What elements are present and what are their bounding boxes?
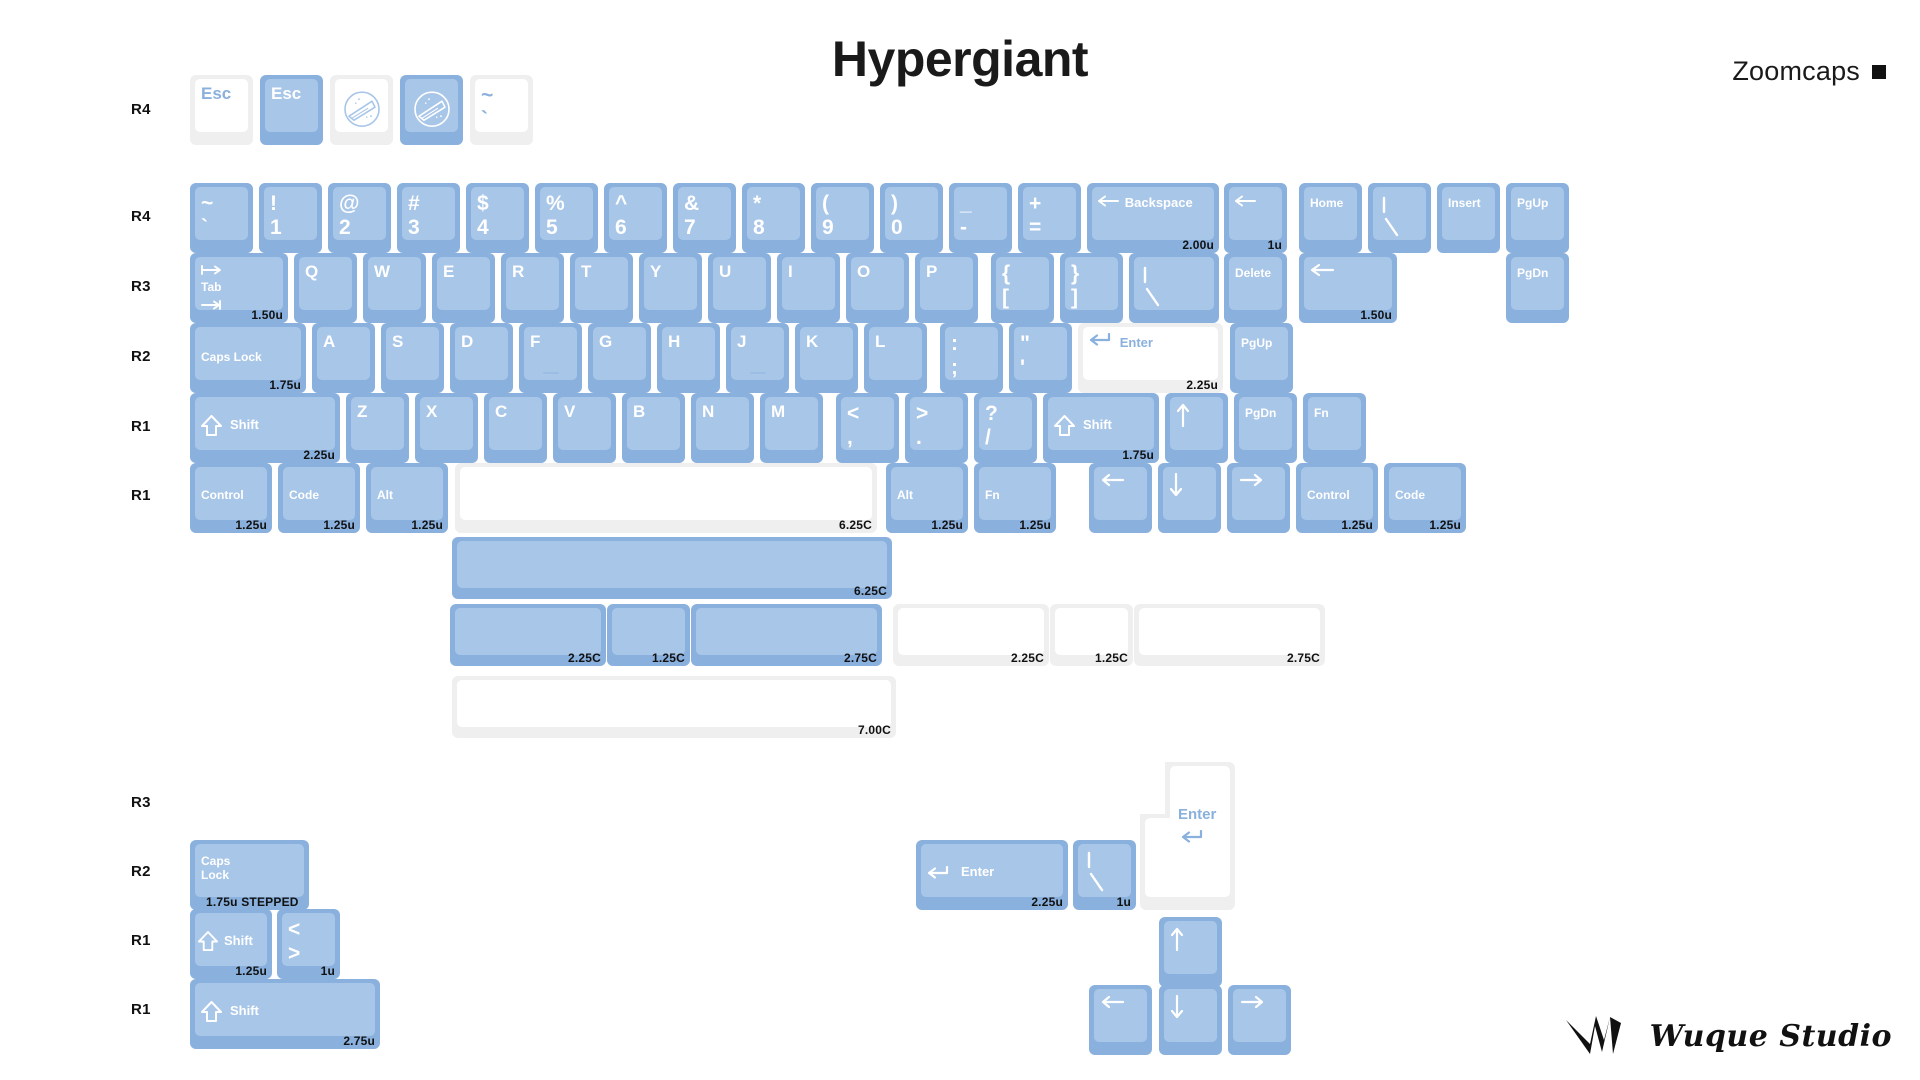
key-size-label: 1.25C — [652, 651, 685, 665]
key-minus[interactable]: _- — [949, 183, 1012, 253]
key-e[interactable]: E — [432, 253, 495, 323]
keycap-surface — [471, 187, 524, 240]
keycap-surface — [1442, 187, 1495, 240]
keycap-surface — [1308, 397, 1361, 450]
keycap-surface — [954, 187, 1007, 240]
keycap-surface — [264, 187, 317, 240]
key-insert[interactable]: Insert — [1437, 183, 1500, 253]
keycap-surface — [696, 608, 877, 655]
keycap-surface — [333, 187, 386, 240]
key-rcontrol[interactable]: Control1.25u — [1296, 463, 1378, 533]
keycap-surface — [920, 257, 973, 310]
row-label-r1-bottom: R1 — [131, 487, 151, 504]
key-lalt[interactable]: Alt1.25u — [366, 463, 448, 533]
key-left-extra[interactable] — [1089, 985, 1152, 1055]
keycap-surface — [420, 397, 473, 450]
keycap-surface — [195, 327, 301, 380]
keycap-surface — [1304, 187, 1357, 240]
key-equal[interactable]: += — [1018, 183, 1081, 253]
keycap-surface — [195, 983, 375, 1036]
key-capslock-stepped[interactable]: Caps Lock 1.75u STEPPED — [190, 840, 309, 910]
keycap-surface — [195, 187, 248, 240]
key-lcode[interactable]: Code1.25u — [278, 463, 360, 533]
keycap-surface — [1139, 608, 1320, 655]
key-7[interactable]: &7 — [673, 183, 736, 253]
key-1[interactable]: !1 — [259, 183, 322, 253]
keycap-surface — [678, 187, 731, 240]
key-m[interactable]: M — [760, 393, 823, 463]
key-x[interactable]: X — [415, 393, 478, 463]
key-rbracket[interactable]: }] — [1060, 253, 1123, 323]
key-size-label: 1u — [321, 964, 335, 978]
key-w[interactable]: W — [363, 253, 426, 323]
key-period[interactable]: >. — [905, 393, 968, 463]
key-size-label: 1.25u — [235, 518, 267, 532]
key-pgdn[interactable]: PgDn — [1506, 253, 1569, 323]
spacebar-275c-white[interactable]: 2.75C — [1134, 604, 1325, 666]
key-quote[interactable]: "' — [1009, 323, 1072, 393]
keycap-surface — [368, 257, 421, 310]
spacebar-125c-blue[interactable]: 1.25C — [607, 604, 690, 666]
spacebar-225c-blue[interactable]: 2.25C — [450, 604, 606, 666]
brand-text: Zoomcaps — [1732, 56, 1860, 87]
key-space-625c-white[interactable]: 6.25C — [455, 463, 877, 533]
key-tilde-grave-white[interactable]: ~ ` — [470, 75, 533, 145]
keycap-surface — [593, 327, 646, 380]
row-label-r2-home: R2 — [131, 348, 151, 365]
key-backspace-15u[interactable]: 1.50u — [1299, 253, 1397, 323]
keycap-surface — [558, 397, 611, 450]
key-esc-white[interactable]: Esc — [190, 75, 253, 145]
key-size-label: 1u — [1117, 895, 1131, 909]
footer-logo: Wuque Studio — [1564, 1014, 1892, 1058]
keycap-surface — [1229, 257, 1282, 310]
black-square-icon — [1872, 65, 1886, 79]
keycap-surface — [506, 257, 559, 310]
key-pgup[interactable]: PgUp — [1506, 183, 1569, 253]
key-c[interactable]: C — [484, 393, 547, 463]
keycap-surface — [195, 257, 283, 310]
keycap-surface — [945, 327, 998, 380]
row-label-r3-qwerty: R3 — [131, 278, 151, 295]
key-backslash[interactable] — [1129, 253, 1219, 323]
key-tab[interactable]: Tab 1.50u — [190, 253, 288, 323]
keycap-surface — [869, 327, 922, 380]
key-f[interactable]: F — [519, 323, 582, 393]
key-comma[interactable]: <, — [836, 393, 899, 463]
keycap-surface — [1511, 257, 1564, 310]
keycap-surface — [1164, 989, 1217, 1042]
keycap-surface — [1301, 467, 1373, 520]
key-l[interactable]: L — [864, 323, 927, 393]
keycap-surface — [455, 608, 601, 655]
keycap-surface — [1014, 327, 1067, 380]
key-size-label: 7.00C — [858, 723, 891, 737]
key-b[interactable]: B — [622, 393, 685, 463]
key-pipe-backslash[interactable] — [1368, 183, 1431, 253]
comet-icon — [412, 89, 452, 129]
pipe-backslash-icon — [1141, 265, 1167, 309]
key-home[interactable]: Home — [1299, 183, 1362, 253]
keycap-surface — [386, 327, 439, 380]
pipe-backslash-icon — [1380, 195, 1406, 239]
keycap-surface — [713, 257, 766, 310]
key-t[interactable]: T — [570, 253, 633, 323]
key-size-label: 1.25u — [1429, 518, 1461, 532]
keycap-surface — [979, 397, 1032, 450]
row-label-r1-shift: R1 — [131, 418, 151, 435]
keycap-surface — [782, 257, 835, 310]
homing-bar — [543, 372, 559, 374]
key-d[interactable]: D — [450, 323, 513, 393]
keycap-surface — [265, 79, 318, 132]
key-size-label: 1.25u — [411, 518, 443, 532]
key-y[interactable]: Y — [639, 253, 702, 323]
key-size-label: 2.00u — [1182, 238, 1214, 252]
key-rfn[interactable]: Fn1.25u — [974, 463, 1056, 533]
keycap-surface — [979, 467, 1051, 520]
keycap-surface — [891, 467, 963, 520]
key-u[interactable]: U — [708, 253, 771, 323]
key-s[interactable]: S — [381, 323, 444, 393]
key-size-label: 1.50u — [251, 308, 283, 322]
keycap-surface — [540, 187, 593, 240]
row-label-r1-extra-a: R1 — [131, 932, 151, 949]
key-iso-enter[interactable]: Enter — [1140, 762, 1235, 910]
key-semicolon[interactable]: :; — [940, 323, 1003, 393]
key-size-label: 1.75u — [1122, 448, 1154, 462]
key-anglebracket-1u[interactable]: <> 1u — [277, 909, 340, 979]
keycap-surface — [195, 844, 304, 897]
keycap-surface — [575, 257, 628, 310]
wuque-w-icon — [1564, 1014, 1636, 1058]
key-slash[interactable]: ?/ — [974, 393, 1037, 463]
key-backspace[interactable]: Backspace 2.00u — [1087, 183, 1219, 253]
key-novelty-comet-white[interactable] — [330, 75, 393, 145]
key-size-label: 1.25u — [931, 518, 963, 532]
key-right[interactable] — [1227, 463, 1290, 533]
spacebar-225c-white[interactable]: 2.25C — [893, 604, 1049, 666]
key-n[interactable]: N — [691, 393, 754, 463]
key-size-label: 1.75u — [269, 378, 301, 392]
keycap-surface — [921, 844, 1063, 897]
keycap-surface — [1164, 921, 1217, 974]
key-size-label: 1.25u — [1341, 518, 1373, 532]
key-shift-275u[interactable]: Shift 2.75u — [190, 979, 380, 1049]
row-label-r1-extra-b: R1 — [131, 1001, 151, 1018]
key-a[interactable]: A — [312, 323, 375, 393]
enter-arrow-icon — [1180, 830, 1208, 844]
keycap-surface — [841, 397, 894, 450]
key-size-label: 2.25u — [1186, 378, 1218, 392]
keycap-surface — [898, 608, 1044, 655]
key-size-label: 1.25u — [1019, 518, 1051, 532]
keycap-surface — [317, 327, 370, 380]
keycap-surface — [1229, 187, 1282, 240]
brand-label: Zoomcaps — [1732, 56, 1886, 87]
key-size-label: 2.25C — [1011, 651, 1044, 665]
logo-text: Wuque Studio — [1650, 1019, 1892, 1054]
key-8[interactable]: *8 — [742, 183, 805, 253]
key-size-label: 6.25C — [839, 518, 872, 532]
keycap-surface — [457, 680, 891, 727]
key-enter[interactable]: Enter 2.25u — [1078, 323, 1223, 393]
key-up[interactable] — [1165, 393, 1228, 463]
keycap-surface — [609, 187, 662, 240]
key-ralt[interactable]: Alt1.25u — [886, 463, 968, 533]
keycap-surface — [1232, 467, 1285, 520]
key-novelty-comet-blue[interactable] — [400, 75, 463, 145]
key-rshift[interactable]: Shift 1.75u — [1043, 393, 1159, 463]
key-lshift[interactable]: Shift 2.25u — [190, 393, 340, 463]
key-i[interactable]: I — [777, 253, 840, 323]
key-size-label: 1.25u — [235, 964, 267, 978]
key-down[interactable] — [1158, 463, 1221, 533]
row-label-r2-extra: R2 — [131, 863, 151, 880]
comet-icon — [342, 89, 382, 129]
key-pipe-backslash-1u[interactable]: 1u — [1073, 840, 1136, 910]
key-size-label: 1.25u — [323, 518, 355, 532]
keycap-surface — [1511, 187, 1564, 240]
key-r[interactable]: R — [501, 253, 564, 323]
key-rcode[interactable]: Code1.25u — [1384, 463, 1466, 533]
key-up-extra[interactable] — [1159, 917, 1222, 987]
keycap-surface — [437, 257, 490, 310]
key-pgdn-r1[interactable]: PgDn — [1234, 393, 1297, 463]
keycap-surface — [765, 397, 818, 450]
key-v[interactable]: V — [553, 393, 616, 463]
keycap-surface — [282, 913, 335, 966]
keycap-surface — [195, 397, 335, 450]
keycap-surface — [644, 257, 697, 310]
key-z[interactable]: Z — [346, 393, 409, 463]
keycap-surface — [475, 79, 528, 132]
key-down-extra[interactable] — [1159, 985, 1222, 1055]
key-size-label: 1.75u STEPPED — [206, 895, 299, 909]
key-5[interactable]: %5 — [535, 183, 598, 253]
key-size-label: 2.25C — [568, 651, 601, 665]
key-size-label: 1.50u — [1360, 308, 1392, 322]
key-size-label: 1.25C — [1095, 651, 1128, 665]
keycap-surface — [851, 257, 904, 310]
key-lbracket[interactable]: {[ — [991, 253, 1054, 323]
keycap-surface — [1065, 257, 1118, 310]
keycap-surface — [351, 397, 404, 450]
spacebar-125c-white[interactable]: 1.25C — [1050, 604, 1133, 666]
keycap-surface — [816, 187, 869, 240]
key-esc-blue[interactable]: Esc — [260, 75, 323, 145]
keycap-surface — [402, 187, 455, 240]
key-0[interactable]: )0 — [880, 183, 943, 253]
key-left[interactable] — [1089, 463, 1152, 533]
keycap-surface — [885, 187, 938, 240]
key-fn-r1[interactable]: Fn — [1303, 393, 1366, 463]
key-pgup-r2[interactable]: PgUp — [1230, 323, 1293, 393]
key-enter-225u-blue[interactable]: Enter 2.25u — [916, 840, 1068, 910]
spacebar-625c-blue[interactable]: 6.25C — [452, 537, 892, 599]
key-right-extra[interactable] — [1228, 985, 1291, 1055]
key-size-label: 2.25u — [303, 448, 335, 462]
keycap-surface — [1048, 397, 1154, 450]
key-h[interactable]: H — [657, 323, 720, 393]
keycap-surface — [371, 467, 443, 520]
keycap-surface — [800, 327, 853, 380]
keycap-surface — [1389, 467, 1461, 520]
iso-notch — [1140, 762, 1165, 814]
key-6[interactable]: ^6 — [604, 183, 667, 253]
key-delete[interactable]: Delete — [1224, 253, 1287, 323]
keycap-surface — [460, 467, 872, 520]
keycap-surface — [1235, 327, 1288, 380]
key-tilde[interactable]: ~` — [190, 183, 253, 253]
key-p[interactable]: P — [915, 253, 978, 323]
keycap-surface — [627, 397, 680, 450]
keycap-surface — [457, 541, 887, 588]
keycap-surface — [1092, 187, 1214, 240]
key-size-label: 2.75C — [844, 651, 877, 665]
keycap-surface — [195, 913, 267, 966]
key-j[interactable]: J — [726, 323, 789, 393]
keycap-surface — [489, 397, 542, 450]
key-9[interactable]: (9 — [811, 183, 874, 253]
keycap-surface — [747, 187, 800, 240]
pipe-backslash-icon — [1085, 850, 1111, 894]
keycap-surface — [1023, 187, 1076, 240]
keycap-surface — [1094, 467, 1147, 520]
key-4[interactable]: $4 — [466, 183, 529, 253]
key-size-label: 1u — [1268, 238, 1282, 252]
keycap-surface — [1083, 327, 1218, 380]
keycap-surface — [455, 327, 508, 380]
keycap-surface — [1233, 989, 1286, 1042]
row-label-r3-extra: R3 — [131, 794, 151, 811]
keycap-surface — [662, 327, 715, 380]
keycap-surface — [1304, 257, 1392, 310]
spacebar-700c-white[interactable]: 7.00C — [452, 676, 896, 738]
homing-bar — [750, 372, 766, 374]
spacebar-275c-blue[interactable]: 2.75C — [691, 604, 882, 666]
key-backspace-1u[interactable]: 1u — [1224, 183, 1287, 253]
keycap-surface — [195, 79, 248, 132]
row-label-r4-numrow: R4 — [131, 208, 151, 225]
key-3[interactable]: #3 — [397, 183, 460, 253]
row-label-r4-novelty: R4 — [131, 101, 151, 118]
key-o[interactable]: O — [846, 253, 909, 323]
keycap-surface — [1163, 467, 1216, 520]
keycap-surface — [299, 257, 352, 310]
keycap-surface — [1239, 397, 1292, 450]
keycap-surface — [1055, 608, 1128, 655]
key-shift-125u[interactable]: Shift 1.25u — [190, 909, 272, 979]
key-legend: Enter — [1178, 806, 1216, 823]
key-lcontrol[interactable]: Control1.25u — [190, 463, 272, 533]
keycap-surface — [612, 608, 685, 655]
key-q[interactable]: Q — [294, 253, 357, 323]
keycap-surface — [996, 257, 1049, 310]
key-size-label: 2.75u — [343, 1034, 375, 1048]
keycap-surface — [696, 397, 749, 450]
key-size-label: 2.75C — [1287, 651, 1320, 665]
keycap-surface — [283, 467, 355, 520]
keycap-surface — [910, 397, 963, 450]
key-g[interactable]: G — [588, 323, 651, 393]
key-2[interactable]: @2 — [328, 183, 391, 253]
key-size-label: 6.25C — [854, 584, 887, 598]
key-k[interactable]: K — [795, 323, 858, 393]
keycap-surface — [1094, 989, 1147, 1042]
keycap-surface — [1170, 397, 1223, 450]
keycap-surface — [195, 467, 267, 520]
key-capslock[interactable]: Caps Lock 1.75u — [190, 323, 306, 393]
key-size-label: 2.25u — [1031, 895, 1063, 909]
